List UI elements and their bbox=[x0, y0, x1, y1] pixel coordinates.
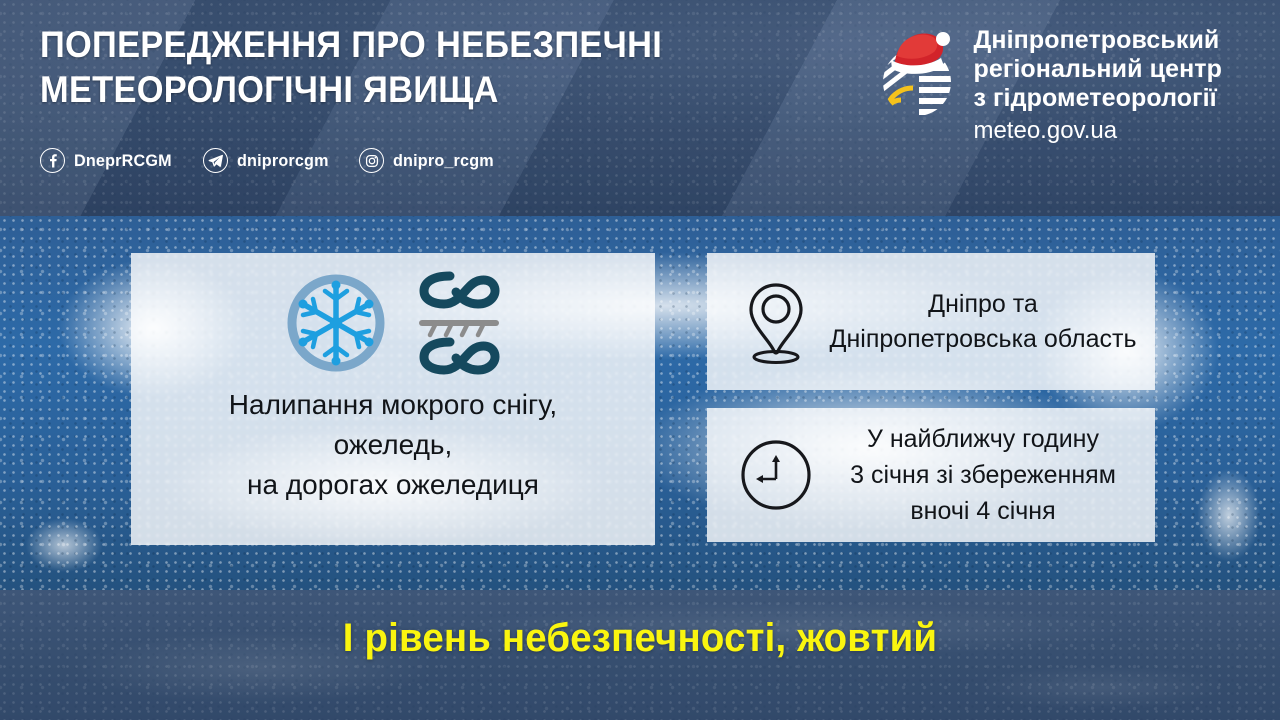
hazard-line-1: Налипання мокрого снігу, bbox=[145, 385, 641, 425]
location-text: Дніпро та Дніпропетровська область bbox=[829, 287, 1137, 357]
hazard-line-2: ожеледь, bbox=[145, 425, 641, 465]
social-handle-facebook: DneprRCGM bbox=[74, 151, 172, 171]
social-link-instagram[interactable]: dnipro_rcgm bbox=[359, 148, 499, 173]
location-card: Дніпро та Дніпропетровська область bbox=[707, 253, 1155, 390]
logo-line-1: Дніпропетровський bbox=[973, 26, 1222, 55]
time-card: У найближчу годину 3 січня зі збереження… bbox=[707, 408, 1155, 542]
glaze-ice-icon bbox=[410, 264, 506, 387]
weather-warning-poster: ПОПЕРЕДЖЕННЯ ПРО НЕБЕЗПЕЧНІ МЕТЕОРОЛОГІЧ… bbox=[0, 0, 1280, 720]
logo-line-2: регіональний центр bbox=[973, 55, 1222, 84]
social-link-telegram[interactable]: dniprorcgm bbox=[203, 148, 333, 173]
hazard-description: Налипання мокрого снігу, ожеледь, на дор… bbox=[131, 381, 655, 505]
hazard-card: Налипання мокрого снігу, ожеледь, на дор… bbox=[131, 253, 655, 545]
santa-hat-icon bbox=[891, 32, 950, 74]
logo-website[interactable]: meteo.gov.ua bbox=[973, 115, 1222, 147]
danger-level-banner: І рівень небезпечності, жовтий bbox=[26, 616, 1255, 661]
time-text: У найближчу годину 3 січня зі збереження… bbox=[829, 421, 1137, 529]
instagram-icon bbox=[359, 148, 384, 173]
header: ПОПЕРЕДЖЕННЯ ПРО НЕБЕЗПЕЧНІ МЕТЕОРОЛОГІЧ… bbox=[0, 0, 1280, 216]
clock-icon bbox=[733, 437, 819, 513]
location-line-2: Дніпропетровська область bbox=[829, 322, 1137, 357]
time-line-1: У найближчу годину bbox=[829, 421, 1137, 457]
logo-text: Дніпропетровський регіональний центр з г… bbox=[973, 26, 1222, 147]
organization-logo[interactable]: Дніпропетровський регіональний центр з г… bbox=[875, 26, 1222, 147]
page-title: ПОПЕРЕДЖЕННЯ ПРО НЕБЕЗПЕЧНІ МЕТЕОРОЛОГІЧ… bbox=[40, 22, 765, 112]
telegram-icon bbox=[203, 148, 228, 173]
location-line-1: Дніпро та bbox=[829, 287, 1137, 322]
map-pin-icon bbox=[733, 279, 819, 365]
time-line-2: 3 січня зі збереженням bbox=[829, 457, 1137, 493]
social-handle-telegram: dniprorcgm bbox=[237, 151, 329, 171]
social-link-facebook[interactable]: DneprRCGM bbox=[40, 148, 177, 173]
time-line-3: вночі 4 січня bbox=[829, 493, 1137, 529]
social-links: DneprRCGM dniprorcgm d bbox=[40, 148, 499, 173]
hydrometeorology-center-logo-icon bbox=[875, 26, 959, 122]
social-handle-instagram: dnipro_rcgm bbox=[393, 151, 494, 171]
logo-line-3: з гідрометеорології bbox=[973, 84, 1222, 113]
facebook-icon bbox=[40, 148, 65, 173]
hazard-line-3: на дорогах ожеледиця bbox=[145, 465, 641, 505]
snowflake-icon bbox=[280, 267, 392, 384]
hazard-icons bbox=[131, 253, 655, 381]
